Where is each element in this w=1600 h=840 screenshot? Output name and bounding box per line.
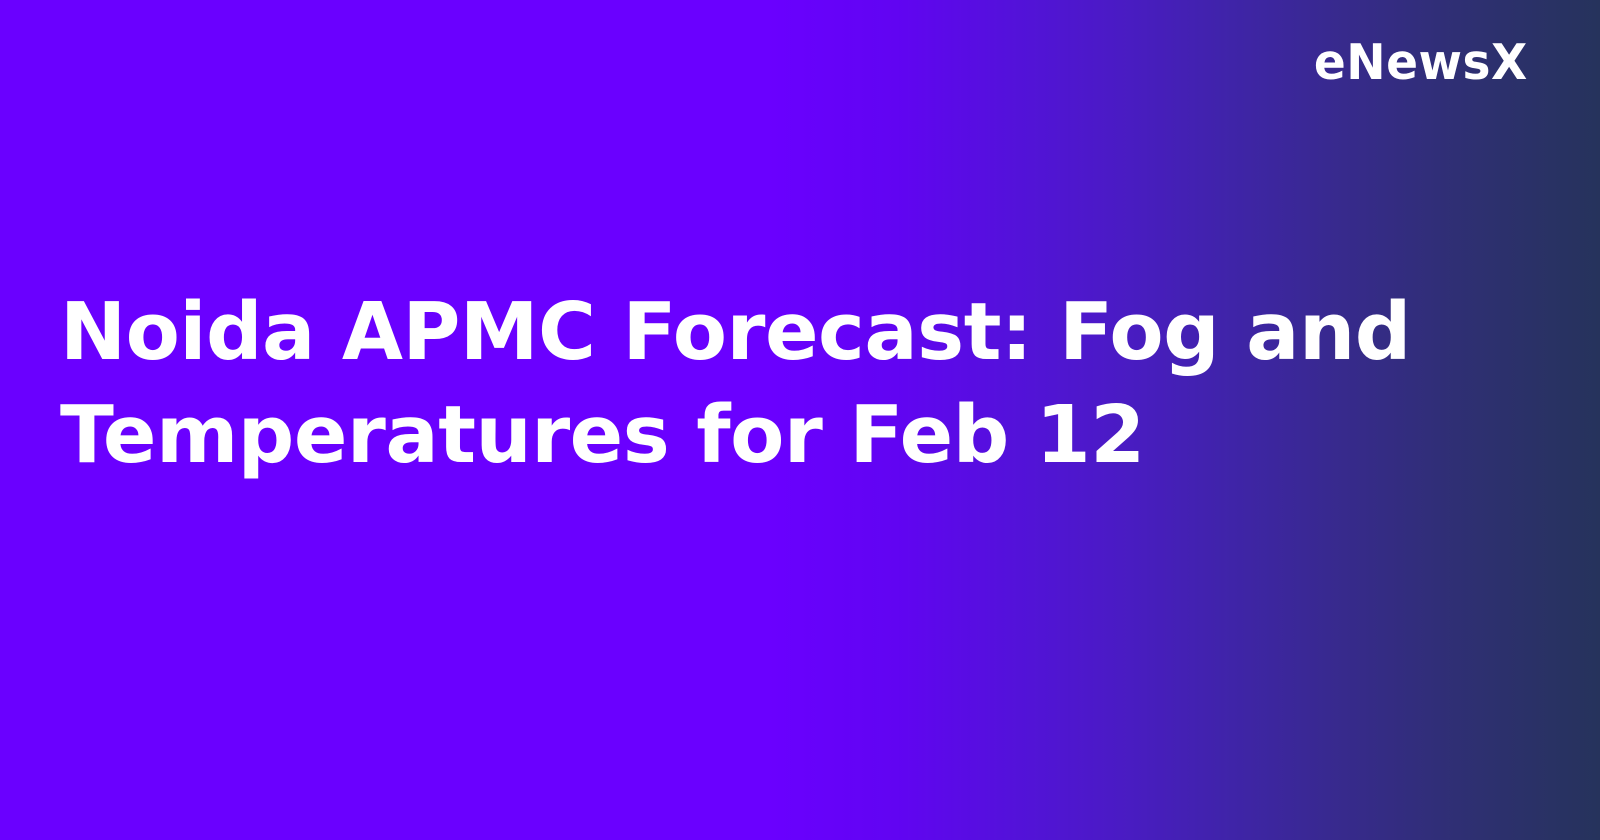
headline-region: Noida APMC Forecast: Fog and Temperature…: [60, 0, 1460, 840]
news-card: eNewsX Noida APMC Forecast: Fog and Temp…: [0, 0, 1600, 840]
page-title: Noida APMC Forecast: Fog and Temperature…: [60, 281, 1430, 487]
